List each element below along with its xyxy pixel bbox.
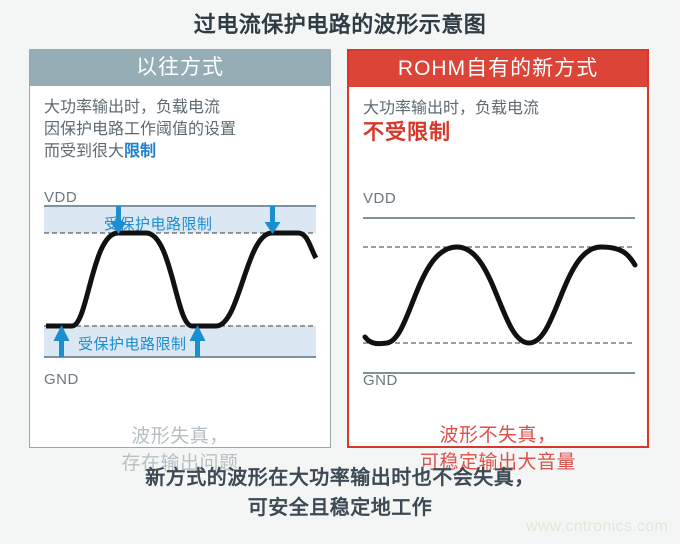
legacy-clipped-waveform [46, 233, 316, 326]
panel-new-method: ROHM自有的新方式 大功率输出时，负载电流 不受限制 VDD GND 波形不失… [347, 49, 649, 448]
new-gnd-label: GND [363, 372, 398, 389]
panel-new-body: 大功率输出时，负载电流 不受限制 [349, 87, 647, 187]
legacy-waveform-chart: VDD GND 受保护电路限制 受保护电路限制 [30, 186, 330, 401]
legacy-gnd-label: GND [44, 371, 79, 388]
legacy-body-line-3-text: 而受到很大 [44, 143, 124, 160]
panel-legacy-body: 大功率输出时，负载电流 因保护电路工作阈值的设置 而受到很大限制 [30, 86, 330, 186]
legacy-body-line-3: 而受到很大限制 [44, 141, 330, 163]
legacy-body-highlight: 限制 [124, 143, 156, 160]
new-footnote-line-1: 波形不失真， [349, 422, 647, 449]
legacy-top-band-label: 受保护电路限制 [104, 213, 213, 234]
legacy-bottom-band-label: 受保护电路限制 [78, 333, 187, 354]
new-vdd-label: VDD [363, 190, 396, 207]
legacy-body-line-2: 因保护电路工作阈值的设置 [44, 119, 330, 141]
new-chart-svg [349, 187, 647, 402]
page-title: 过电流保护电路的波形示意图 [0, 7, 680, 39]
new-waveform-chart: VDD GND [349, 187, 647, 402]
new-body-line-1: 大功率输出时，负载电流 [363, 98, 647, 120]
legacy-body-line-1: 大功率输出时，负载电流 [44, 97, 330, 119]
watermark: www.cntronics.com [526, 518, 668, 536]
legacy-vdd-label: VDD [44, 189, 77, 206]
panel-new-header: ROHM自有的新方式 [349, 51, 647, 87]
caption-line-1: 新方式的波形在大功率输出时也不会失真， [0, 463, 680, 493]
summary-caption: 新方式的波形在大功率输出时也不会失真， 可安全且稳定地工作 [0, 463, 680, 523]
new-body-highlight: 不受限制 [363, 120, 647, 146]
panel-legacy-method: 以往方式 大功率输出时，负载电流 因保护电路工作阈值的设置 而受到很大限制 [29, 49, 331, 448]
panel-legacy-header: 以往方式 [30, 50, 330, 86]
legacy-footnote-line-1: 波形失真， [30, 423, 330, 450]
new-clean-sine-waveform [365, 247, 635, 344]
